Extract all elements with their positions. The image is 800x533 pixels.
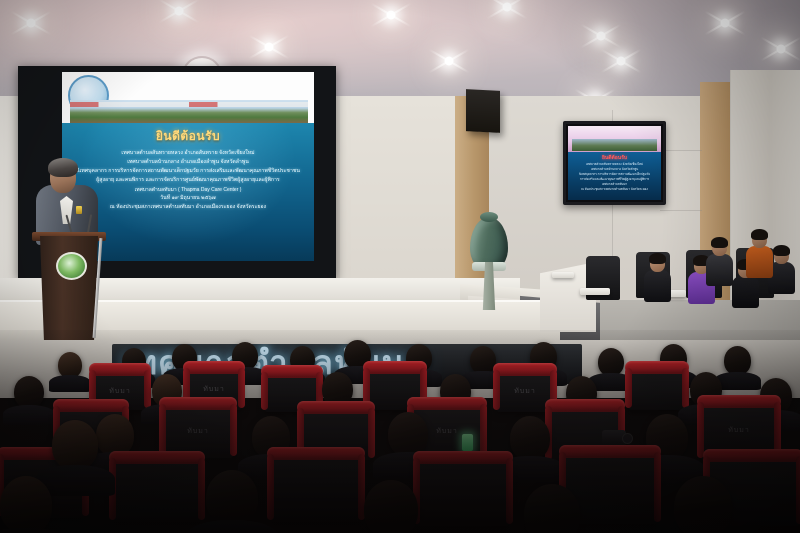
tv-title: ยินดีต้อนรับ	[568, 154, 661, 162]
ceiling-light	[268, 46, 270, 48]
side-table	[552, 272, 574, 278]
ceiling-light	[30, 22, 32, 24]
ceiling-light	[506, 6, 508, 8]
slide-line: เทศบาลตำบลสันทรายหลวง อำเภอสันทราย จังหว…	[62, 149, 314, 158]
side-television: ยินดีต้อนรับ เทศบาลตำบลสันทรายหลวง จังหว…	[563, 121, 666, 205]
podium-emblem-icon	[56, 252, 87, 280]
audience-shadow-overlay	[0, 330, 800, 533]
slide-line: ณ ห้องประชุมสภาเทศบาลตำบลทับมา อำเภอเมือ…	[62, 203, 314, 212]
wall-loudspeaker-icon	[466, 89, 500, 133]
official-hair	[751, 229, 768, 240]
slide-line: ผู้สูงอายุ และคนพิการ และการจัดบริการศูน…	[62, 176, 314, 185]
speaker-hair	[48, 158, 78, 177]
official-hair	[711, 237, 728, 248]
official-torso	[746, 246, 773, 278]
ceiling-light	[178, 10, 180, 12]
ceiling-light	[724, 22, 726, 24]
official-torso	[732, 276, 759, 308]
ceiling-light	[620, 60, 622, 62]
slide-banner	[62, 72, 314, 123]
ceiling-light	[390, 14, 392, 16]
official-torso	[706, 254, 733, 286]
official-hair	[649, 253, 666, 264]
ceiling-light	[448, 60, 450, 62]
speaker-badge	[76, 206, 82, 214]
panel-seam	[660, 150, 702, 151]
slide-title: ยินดีต้อนรับ	[62, 130, 314, 143]
banner-building-photo	[70, 100, 308, 123]
slide-line: เทศบาลตำบลบ้านกลาง อำเภอเมืองลำพูน จังหว…	[62, 158, 314, 167]
ceiling-light	[780, 48, 782, 50]
panel-seam	[660, 210, 702, 211]
official-torso	[644, 270, 671, 302]
side-table	[580, 288, 610, 295]
tv-body: ยินดีต้อนรับ เทศบาลตำบลสันทรายหลวง จังหว…	[568, 152, 661, 200]
official-hair	[773, 245, 790, 256]
tv-line: ณ ห้องประชุมสภาเทศบาลตำบลทับมา จังหวัดระ…	[568, 187, 661, 192]
slide-line: นิเทศบุคลากร การบริหารจัดการสถานพัฒนาเด็…	[62, 167, 314, 176]
auditorium-photo: ยินดีต้อนรับ เทศบาลตำบลสันทรายหลวง อำเภอ…	[0, 0, 800, 533]
slide-line: เทศบาลตำบลทับมา ( Thapma Day Care Center…	[62, 186, 314, 195]
slide-line: วันที่ ๑๙ มิถุนายน ๒๕๖๗	[62, 194, 314, 203]
audience-area: ทับมา ทับมา ทับมา ทับมา ทับมา ทับมา	[0, 330, 800, 533]
tv-screen: ยินดีต้อนรับ เทศบาลตำบลสันทรายหลวง จังหว…	[568, 126, 661, 200]
ceiling-light	[600, 35, 602, 37]
tv-banner	[568, 126, 661, 152]
